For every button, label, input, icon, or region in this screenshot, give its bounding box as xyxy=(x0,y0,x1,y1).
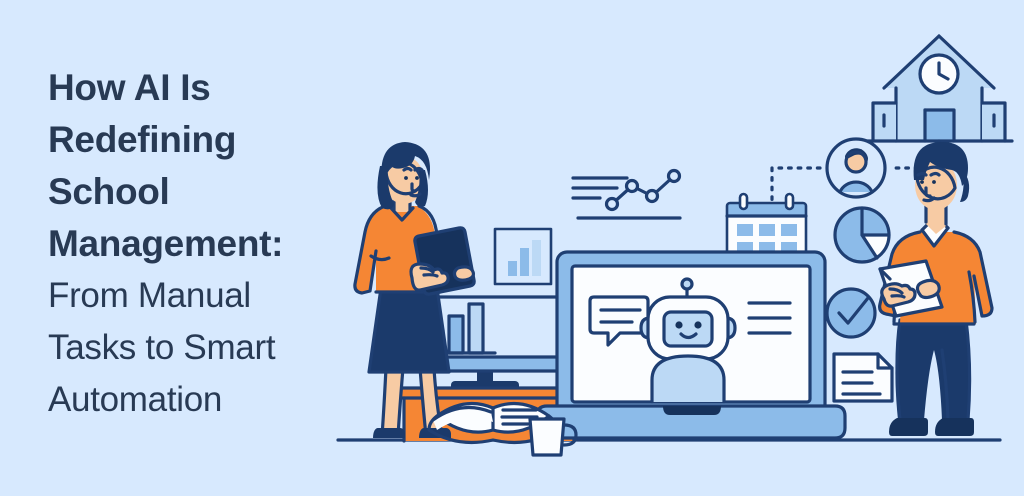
user-avatar-icon xyxy=(827,139,885,197)
line-chart-icon xyxy=(573,171,680,219)
check-circle-icon xyxy=(827,289,875,337)
document-icon xyxy=(834,354,892,401)
illustration-svg: .ink { stroke:#1f3f73; fill:none; stroke… xyxy=(0,0,1024,496)
framed-bar-chart-picture xyxy=(495,229,551,284)
pie-chart-icon xyxy=(835,208,889,262)
laptop-with-chatbot xyxy=(537,252,845,438)
banner: How AI Is Redefining School Management: … xyxy=(0,0,1024,496)
man-with-clipboard xyxy=(880,142,992,436)
school-building-icon xyxy=(866,36,1012,141)
hero-illustration: .ink { stroke:#1f3f73; fill:none; stroke… xyxy=(0,0,1024,496)
